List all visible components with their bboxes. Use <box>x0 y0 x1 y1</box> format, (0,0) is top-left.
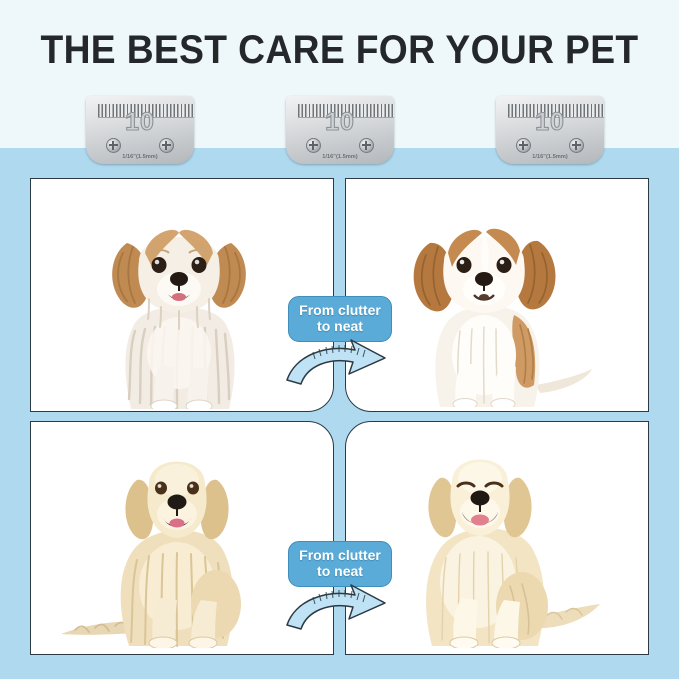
screw-icon <box>359 138 374 153</box>
pet-care-poster: THE BEST CARE FOR YOUR PET 10 1/16"(1.5m… <box>0 0 679 679</box>
dog-photo-shaggy-terrier <box>79 203 279 409</box>
clipper-blade-3: 10 1/16"(1.5mm) <box>490 88 610 166</box>
blade-size-number: 10 <box>280 108 400 137</box>
blade-size-number: 10 <box>490 108 610 137</box>
dog-photo-groomed-retriever <box>370 436 605 648</box>
blade-spec-label: 1/16"(1.5mm) <box>80 154 200 160</box>
before-after-grid <box>30 178 649 655</box>
screw-icon <box>306 138 321 153</box>
dog-photo-groomed-terrier <box>386 207 601 407</box>
clipper-blade-2: 10 1/16"(1.5mm) <box>280 88 400 166</box>
screw-icon <box>569 138 584 153</box>
blade-spec-label: 1/16"(1.5mm) <box>490 154 610 160</box>
page-title: THE BEST CARE FOR YOUR PET <box>24 28 655 73</box>
panel-top-left <box>30 178 334 412</box>
screw-icon <box>159 138 174 153</box>
panel-bottom-left <box>30 421 334 655</box>
blade-spec-label: 1/16"(1.5mm) <box>280 154 400 160</box>
panel-top-right <box>345 178 649 412</box>
screw-icon <box>106 138 121 153</box>
screw-icon <box>516 138 531 153</box>
clipper-blade-1: 10 1/16"(1.5mm) <box>80 88 200 166</box>
blade-size-number: 10 <box>80 108 200 137</box>
dog-photo-ungroomed-retriever <box>51 436 281 648</box>
blade-row: 10 1/16"(1.5mm) 10 1/16"(1.5mm) 10 1/16"… <box>0 88 679 168</box>
panel-bottom-right <box>345 421 649 655</box>
